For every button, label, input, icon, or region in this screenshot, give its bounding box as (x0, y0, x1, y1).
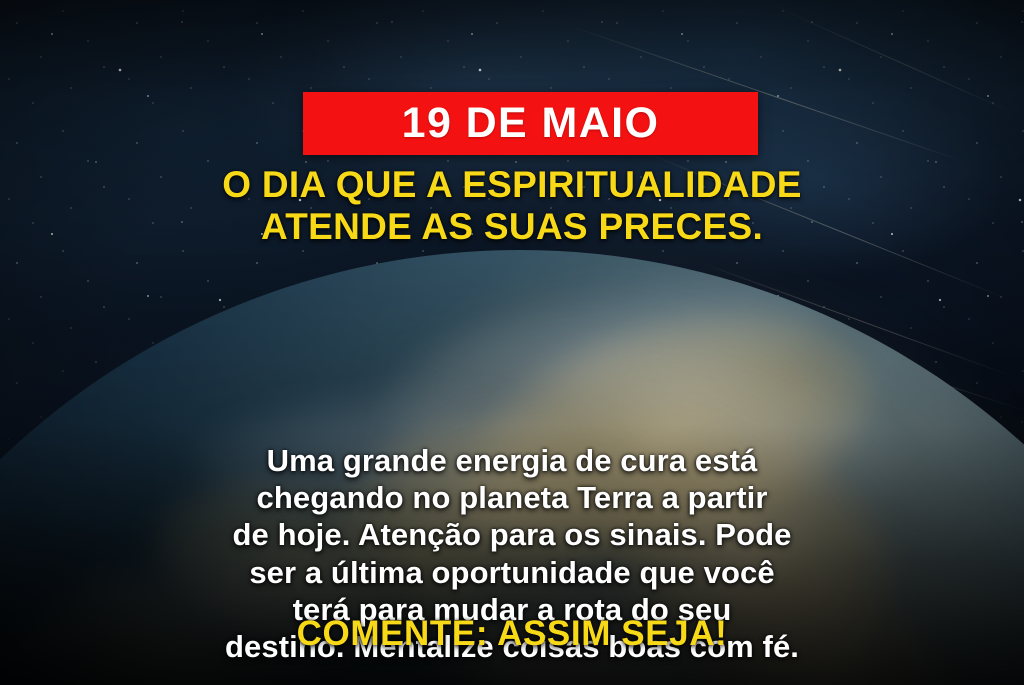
body-line-4: ser a última oportunidade que você (72, 554, 952, 591)
date-banner-label: 19 DE MAIO (402, 102, 660, 145)
poster-content: 19 DE MAIO O DIA QUE A ESPIRITUALIDADE A… (0, 0, 1024, 685)
body-line-1: Uma grande energia de cura está (72, 442, 952, 479)
poster-image: 19 DE MAIO O DIA QUE A ESPIRITUALIDADE A… (0, 0, 1024, 685)
headline-line-2: ATENDE AS SUAS PRECES. (0, 206, 1024, 248)
headline: O DIA QUE A ESPIRITUALIDADE ATENDE AS SU… (0, 164, 1024, 248)
call-to-action-text: COMENTE: ASSIM SEJA! (0, 615, 1024, 654)
body-line-2: chegando no planeta Terra a partir (72, 479, 952, 516)
body-line-3: de hoje. Atenção para os sinais. Pode (72, 516, 952, 553)
headline-line-1: O DIA QUE A ESPIRITUALIDADE (0, 164, 1024, 206)
date-banner: 19 DE MAIO (303, 92, 758, 155)
